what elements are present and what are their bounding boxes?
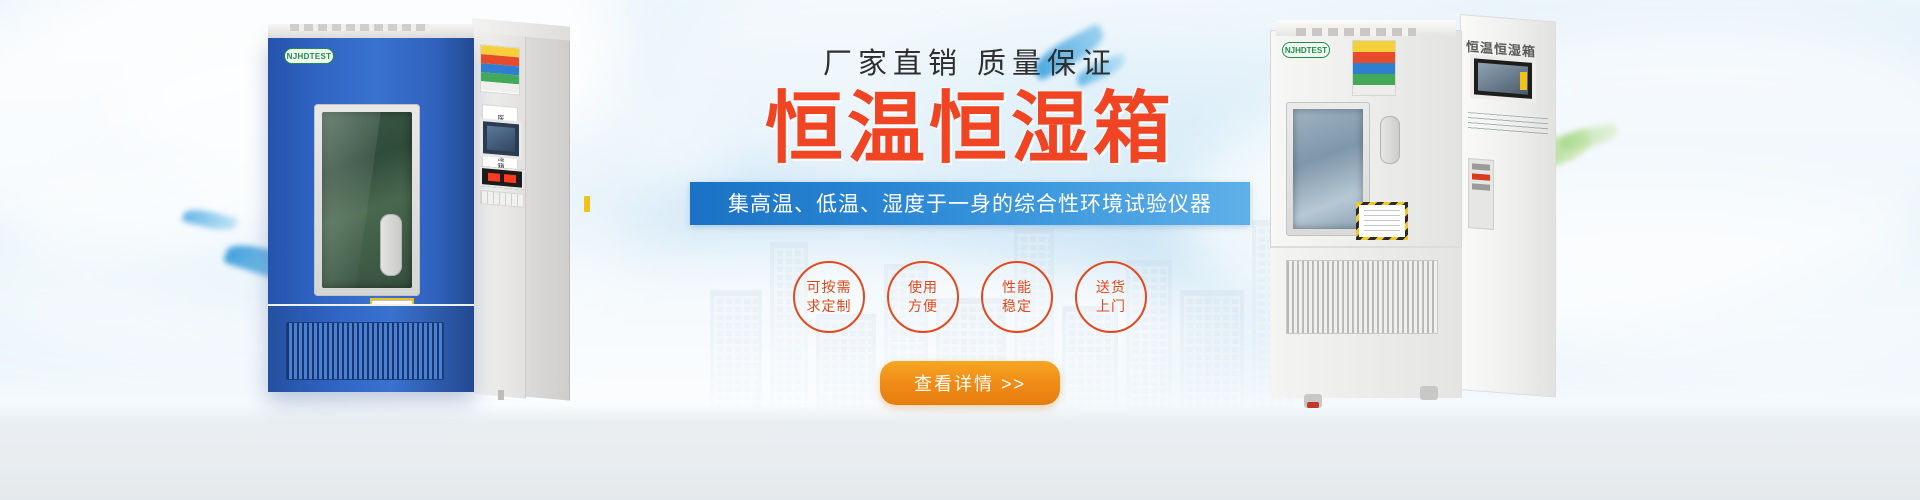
side-control-panel <box>1468 158 1494 230</box>
control-screen-icon <box>480 118 522 160</box>
warning-label-strip <box>1352 40 1396 96</box>
door-handle-icon <box>380 214 402 276</box>
badge-line-1: 性能 <box>1002 278 1032 297</box>
badge-line-2: 方便 <box>908 297 938 316</box>
badge-line-1: 使用 <box>908 278 938 297</box>
view-details-button[interactable]: 查看详情 >> <box>880 361 1060 405</box>
brand-logo-left: NJHDTEST <box>284 48 334 64</box>
headline-text: 恒温恒湿箱 <box>690 86 1250 170</box>
product-image-left-chamber: NJHDTEST 医用恒温恒湿箱 <box>268 18 528 400</box>
feature-badge[interactable]: 可按需 求定制 <box>793 261 865 333</box>
warning-label-strip <box>480 44 520 95</box>
yellow-marker <box>1520 72 1527 90</box>
badge-line-2: 稳定 <box>1002 297 1032 316</box>
kicker-text: 厂家直销 质量保证 <box>690 40 1250 82</box>
subtitle-bar: 集高温、低温、湿度于一身的综合性环境试验仪器 <box>690 182 1250 225</box>
badge-line-1: 可按需 <box>807 278 852 297</box>
brand-logo-right: NJHDTEST <box>1282 42 1330 58</box>
product-image-right-chamber: NJHDTEST 恒温恒湿箱 <box>1270 6 1560 406</box>
led-display <box>480 166 524 190</box>
badge-line-2: 上门 <box>1096 297 1126 316</box>
yellow-marker <box>584 196 590 212</box>
badge-line-1: 送货 <box>1096 278 1126 297</box>
feature-badge[interactable]: 送货 上门 <box>1075 261 1147 333</box>
ground-reflection <box>0 404 1920 500</box>
feature-badge-list: 可按需 求定制 使用 方便 性能 稳定 送货 上门 <box>690 261 1250 333</box>
door-handle-icon <box>1380 116 1400 164</box>
banner-copy-block: 厂家直销 质量保证 恒温恒湿箱 集高温、低温、湿度于一身的综合性环境试验仪器 可… <box>690 40 1250 405</box>
feature-badge[interactable]: 性能 稳定 <box>981 261 1053 333</box>
feature-badge[interactable]: 使用 方便 <box>887 261 959 333</box>
caster-wheel-icon <box>1420 386 1438 400</box>
caster-wheel-icon <box>1304 394 1322 408</box>
vent-grille <box>286 322 444 380</box>
vent-grille <box>1286 260 1438 334</box>
promo-banner: NJHDTEST 医用恒温恒湿箱 NJHDTEST 恒温恒湿箱 <box>0 0 1920 500</box>
cta-row: 查看详情 >> <box>690 361 1250 405</box>
badge-line-2: 求定制 <box>807 297 852 316</box>
